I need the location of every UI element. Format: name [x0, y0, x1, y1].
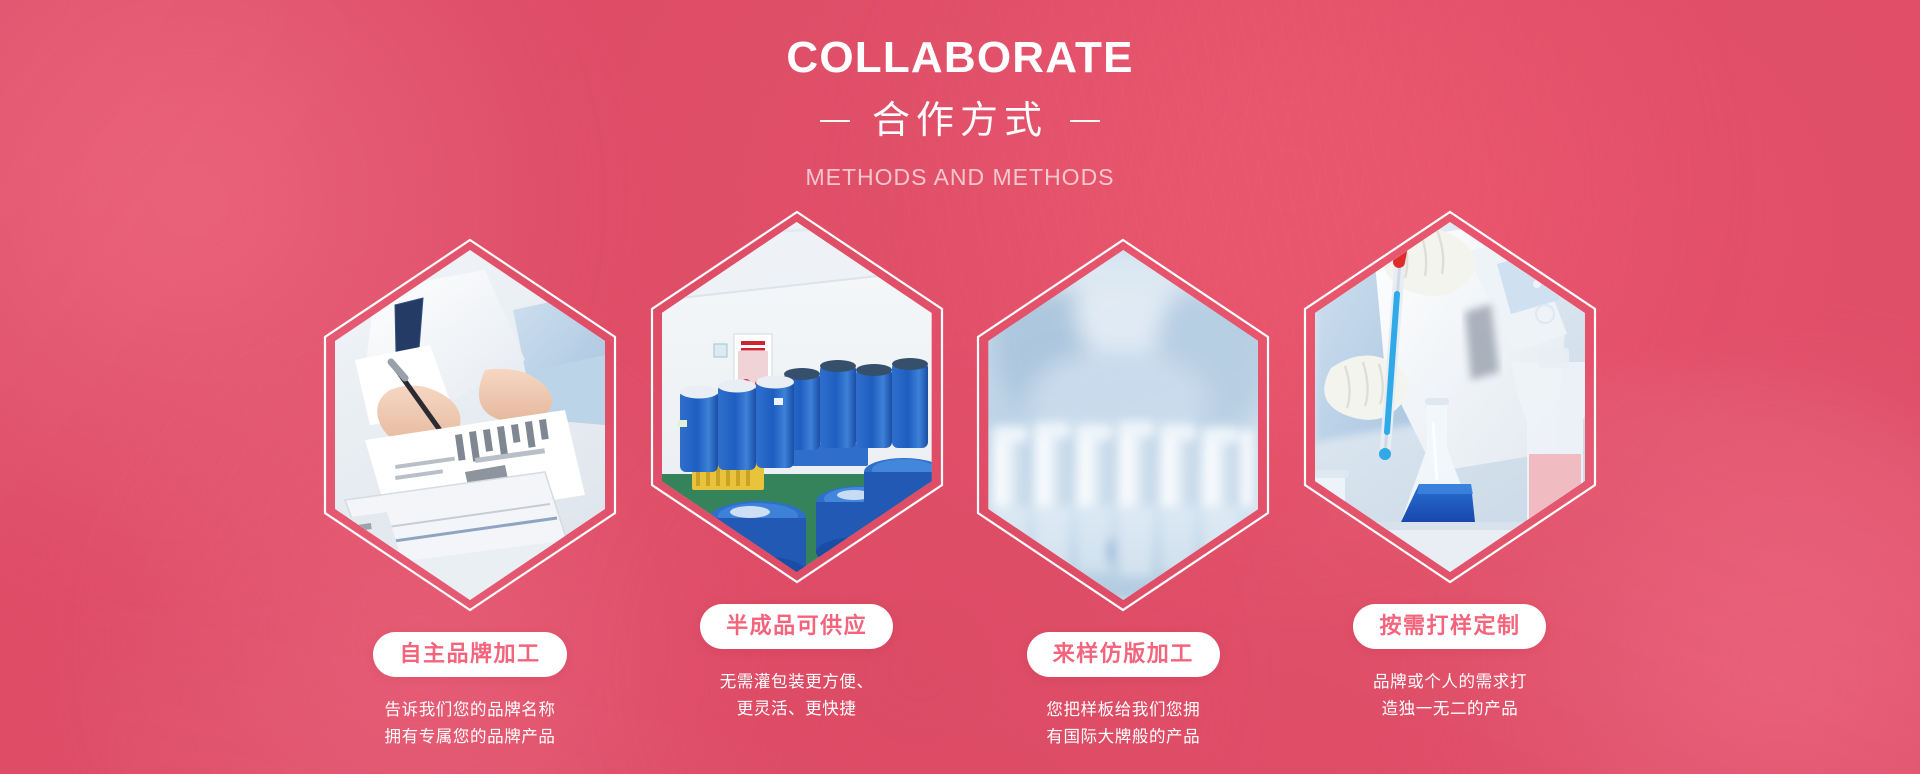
collaboration-card-list: 自主品牌加工 告诉我们您的品牌名称 拥有专属您的品牌产品	[335, 250, 1585, 751]
card-caption-line: 告诉我们您的品牌名称	[385, 697, 556, 724]
page-title-english: COLLABORATE	[0, 36, 1920, 80]
card-pill-label: 自主品牌加工	[373, 632, 566, 677]
title-rule-left-icon	[820, 120, 850, 122]
card-caption-line: 您把样板给我们您拥	[1046, 697, 1200, 724]
hexagon-image-frame	[662, 222, 932, 572]
collaboration-card[interactable]: 自主品牌加工 告诉我们您的品牌名称 拥有专属您的品牌产品	[335, 250, 605, 751]
card-pill-label: 半成品可供应	[700, 604, 893, 649]
title-rule-right-icon	[1070, 120, 1100, 122]
page-title-chinese-row: 合作方式	[0, 102, 1920, 140]
card-caption: 无需灌包装更方便、 更灵活、更快捷	[720, 669, 874, 723]
card-caption-line: 无需灌包装更方便、	[720, 669, 874, 696]
collaboration-card[interactable]: 半成品可供应 无需灌包装更方便、 更灵活、更快捷	[662, 222, 932, 751]
hexagon-image-frame	[1315, 222, 1585, 572]
hexagon-image-frame	[335, 250, 605, 600]
hexagon-image-frame	[988, 250, 1258, 600]
card-caption: 品牌或个人的需求打 造独一无二的产品	[1373, 669, 1527, 723]
card-caption-line: 拥有专属您的品牌产品	[385, 724, 556, 751]
card-caption-line: 更灵活、更快捷	[720, 696, 874, 723]
card-caption-line: 造独一无二的产品	[1373, 696, 1527, 723]
collaborate-banner: COLLABORATE 合作方式 METHODS AND METHODS	[0, 0, 1920, 774]
page-subtitle-english: METHODS AND METHODS	[0, 166, 1920, 189]
card-caption-line: 品牌或个人的需求打	[1373, 669, 1527, 696]
collaboration-card[interactable]: 按需打样定制 品牌或个人的需求打 造独一无二的产品	[1315, 222, 1585, 751]
section-header: COLLABORATE 合作方式 METHODS AND METHODS	[0, 36, 1920, 189]
card-caption-line: 有国际大牌般的产品	[1046, 724, 1200, 751]
page-title-chinese: 合作方式	[872, 102, 1048, 140]
card-caption: 您把样板给我们您拥 有国际大牌般的产品	[1046, 697, 1200, 751]
card-pill-label: 来样仿版加工	[1027, 632, 1220, 677]
card-caption: 告诉我们您的品牌名称 拥有专属您的品牌产品	[385, 697, 556, 751]
card-pill-label: 按需打样定制	[1353, 604, 1546, 649]
collaboration-card[interactable]: 来样仿版加工 您把样板给我们您拥 有国际大牌般的产品	[988, 250, 1258, 751]
